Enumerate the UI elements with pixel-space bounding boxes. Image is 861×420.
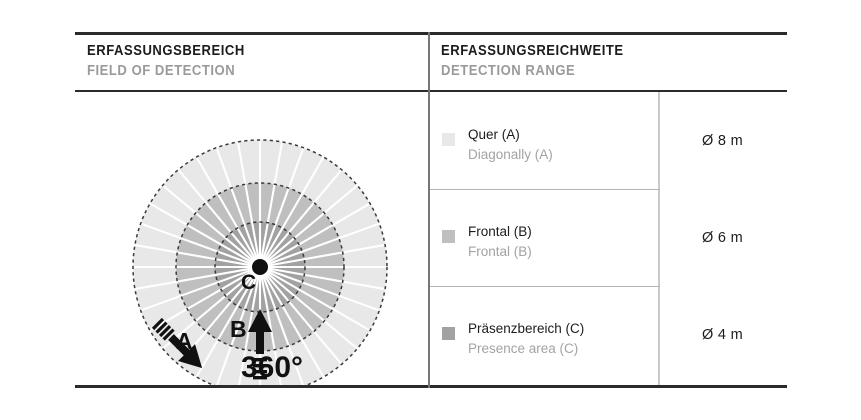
row-label-de: Präsenzbereich (C) (468, 319, 584, 339)
range-value: Ø 8 m (658, 92, 787, 189)
row-label-en: Diagonally (A) (468, 145, 553, 165)
row-label-group: Präsenzbereich (C) Presence area (C) (468, 319, 584, 358)
detection-spec-table: ERFASSUNGSBEREICH FIELD OF DETECTION ERF… (75, 32, 787, 387)
range-value: Ø 4 m (658, 286, 787, 383)
row-label-en: Presence area (C) (468, 339, 584, 359)
detection-field-svg: C B A 360° (75, 92, 428, 385)
column-header-detection-range: ERFASSUNGSREICHWEITE DETECTION RANGE (441, 42, 644, 80)
zone-swatch-a (442, 133, 455, 146)
header-title-de: ERFASSUNGSREICHWEITE (441, 42, 624, 60)
table-row: Frontal (B) Frontal (B) Ø 6 m (430, 189, 787, 286)
range-value: Ø 6 m (658, 189, 787, 286)
detection-field-diagram: C B A 360° (75, 92, 428, 385)
header-title-de: ERFASSUNGSBEREICH (87, 42, 245, 60)
column-header-field-of-detection: ERFASSUNGSBEREICH FIELD OF DETECTION (87, 42, 262, 80)
row-label-en: Frontal (B) (468, 242, 532, 262)
angle-label: 360° (241, 351, 303, 384)
header-title-en: DETECTION RANGE (441, 62, 624, 80)
header-title-en: FIELD OF DETECTION (87, 62, 245, 80)
row-label-group: Frontal (B) Frontal (B) (468, 222, 532, 261)
row-label-group: Quer (A) Diagonally (A) (468, 125, 553, 164)
zone-swatch-c (442, 327, 455, 340)
row-label-de: Quer (A) (468, 125, 553, 145)
table-row: Quer (A) Diagonally (A) Ø 8 m (430, 92, 787, 189)
zone-swatch-b (442, 230, 455, 243)
zone-label-b: B (230, 316, 247, 342)
table-top-rule (75, 32, 787, 35)
table-bottom-rule (75, 385, 787, 388)
zone-label-c: C (241, 271, 256, 294)
table-row: Präsenzbereich (C) Presence area (C) Ø 4… (430, 286, 787, 383)
row-label-de: Frontal (B) (468, 222, 532, 242)
zone-label-a: A (176, 328, 193, 354)
